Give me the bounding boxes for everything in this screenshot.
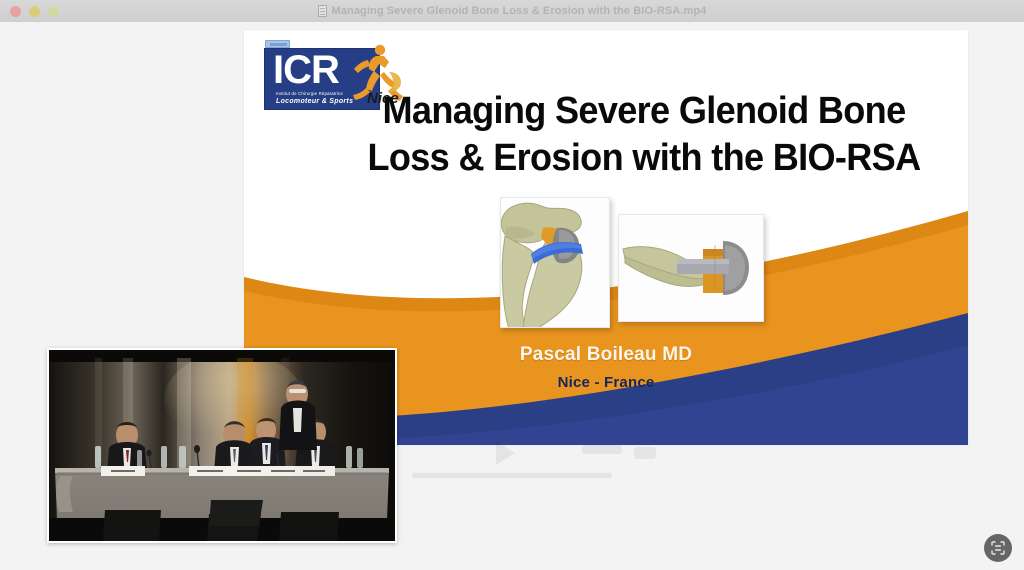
slide-image-group [500, 197, 764, 328]
bio-rsa-implant-cross-section[interactable] [618, 214, 764, 322]
glenoid-bone-graft-3d-render[interactable] [500, 197, 610, 328]
logo-subtitle-line1: Institut de Chirurgie Réparatrice [276, 91, 343, 96]
panel-video-thumbnail[interactable] [47, 348, 397, 543]
conference-panel-photo [49, 350, 395, 541]
timeline-scrubber[interactable] [412, 473, 612, 478]
glenoid-graft-illustration [501, 198, 610, 328]
picture-in-picture-button[interactable] [984, 534, 1012, 562]
window-titlebar: Managing Severe Glenoid Bone Loss & Eros… [0, 0, 1024, 22]
close-button[interactable] [10, 6, 21, 17]
scan-frame-icon [990, 540, 1006, 556]
player-content-area: ICR Institut de Chirurgie Réparatrice Lo… [0, 22, 1024, 570]
window-title: Managing Severe Glenoid Bone Loss & Eros… [332, 5, 707, 17]
minimize-button[interactable] [29, 6, 40, 17]
slide-title: Managing Severe Glenoid Bone Loss & Eros… [345, 88, 944, 182]
time-display [582, 445, 622, 454]
video-player-window: Managing Severe Glenoid Bone Loss & Eros… [0, 0, 1024, 570]
document-icon [318, 5, 327, 17]
implant-cross-section-illustration [619, 215, 764, 322]
logo-acronym: ICR [273, 50, 339, 90]
maximize-button[interactable] [48, 6, 59, 17]
play-button[interactable] [496, 441, 515, 465]
logo-subtitle-line2: Locomoteur & Sports [276, 98, 353, 105]
image-selection-handle[interactable] [265, 40, 290, 48]
window-controls [0, 6, 59, 17]
next-track-button[interactable] [634, 447, 656, 459]
titlebar-title-group: Managing Severe Glenoid Bone Loss & Eros… [0, 5, 1024, 17]
video-frame [49, 350, 395, 541]
